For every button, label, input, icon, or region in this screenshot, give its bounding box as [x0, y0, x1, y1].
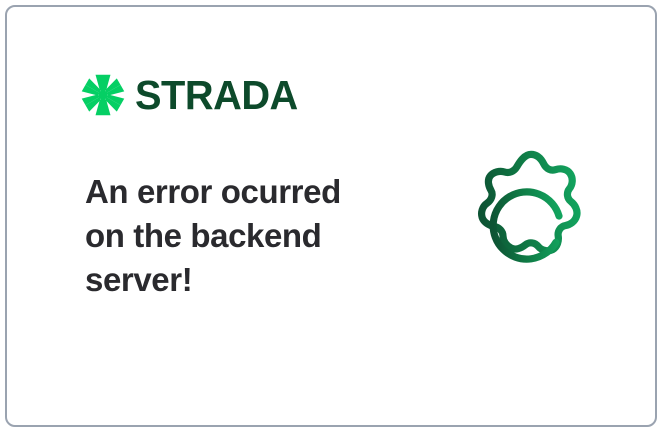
gear-cog-icon	[451, 148, 611, 308]
error-message-text: An error ocurred on the backend server!	[85, 170, 385, 302]
brand-lockup: STRADA	[81, 73, 303, 117]
strada-asterisk-mark-icon	[81, 73, 125, 117]
brand-wordmark: STRADA	[135, 75, 298, 116]
error-card: STRADA An error ocurred on the backend s…	[5, 5, 657, 427]
